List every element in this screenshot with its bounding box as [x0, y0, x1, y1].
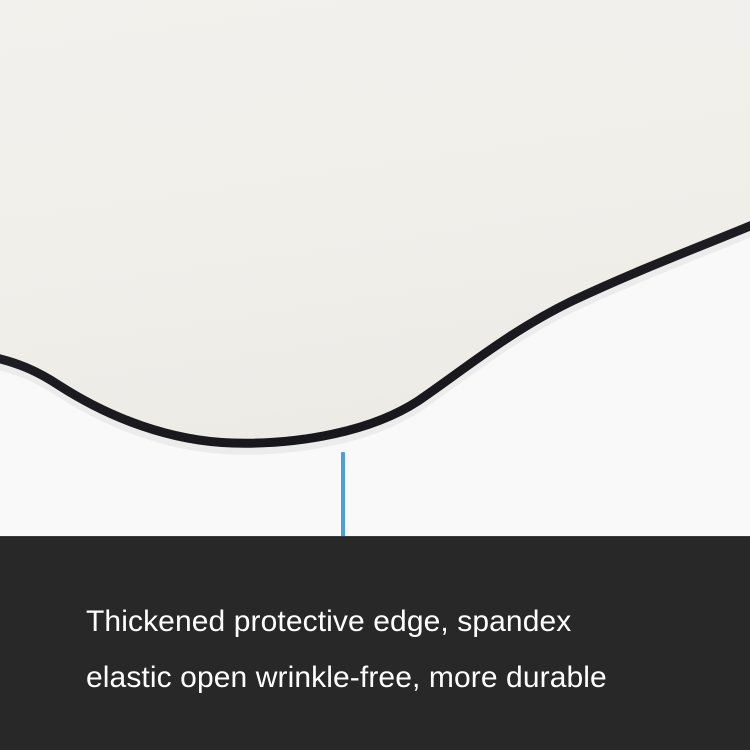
caption-line-2: elastic open wrinkle-free, more durable — [86, 650, 686, 706]
caption-line-1: Thickened protective edge, spandex — [86, 594, 686, 650]
product-corner-illustration — [0, 0, 750, 536]
product-photo — [0, 0, 750, 536]
caption-band: Thickened protective edge, spandex elast… — [0, 536, 750, 750]
band-top-hairline — [0, 536, 750, 537]
caption-text-block: Thickened protective edge, spandex elast… — [86, 594, 686, 706]
product-marketing-image: Thickened protective edge, spandex elast… — [0, 0, 750, 750]
